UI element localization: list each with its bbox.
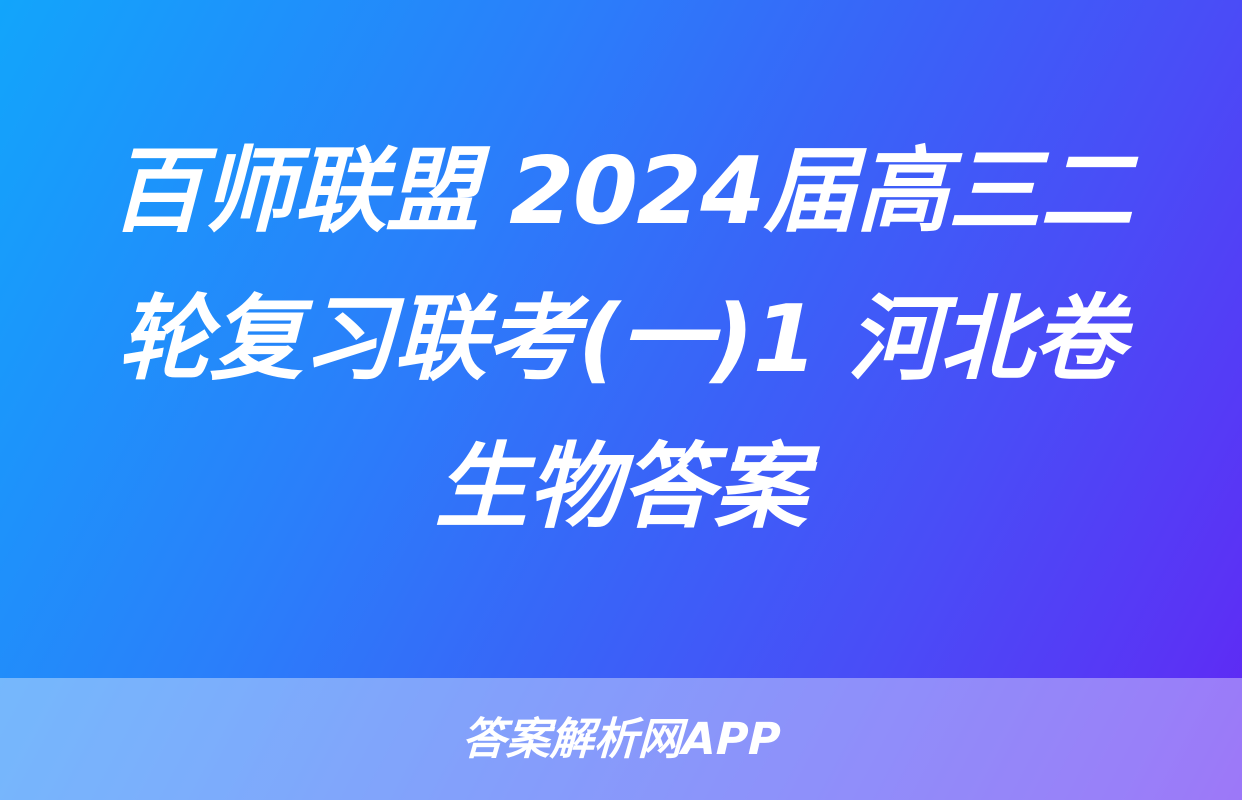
app-promo-band: 答案解析网APP	[0, 678, 1242, 800]
headline-block: 百师联盟 2024届高三二 轮复习联考(一)1 河北卷 生物答案	[0, 0, 1242, 678]
poster-canvas: 百师联盟 2024届高三二 轮复习联考(一)1 河北卷 生物答案 答案解析网AP…	[0, 0, 1242, 800]
app-promo-label: 答案解析网APP	[461, 718, 781, 762]
headline-line-3: 生物答案	[434, 413, 807, 561]
headline-line-2: 轮复习联考(一)1 河北卷	[117, 265, 1124, 413]
headline-line-1: 百师联盟 2024届高三二	[109, 117, 1133, 265]
